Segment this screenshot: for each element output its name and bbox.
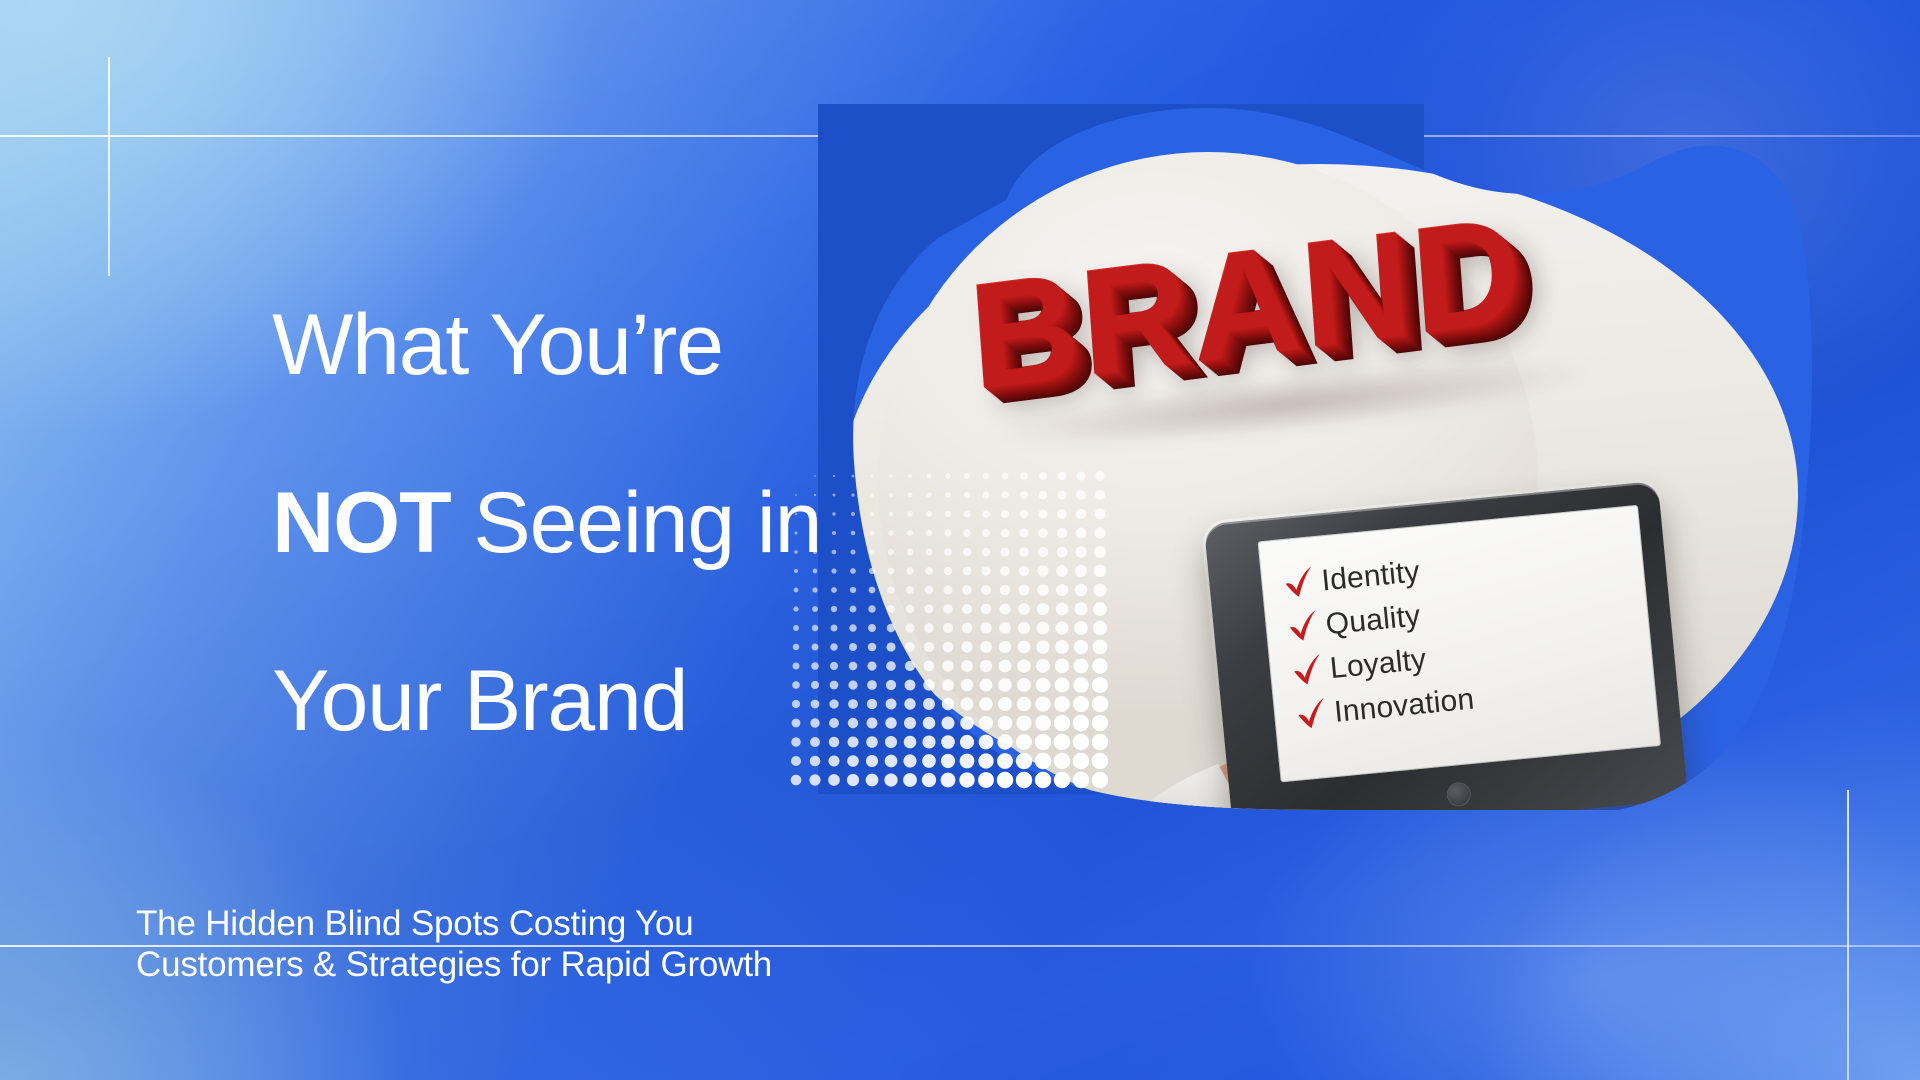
blob-mask: BRAND xyxy=(818,104,1818,810)
check-mark-icon xyxy=(1284,609,1321,646)
hero-banner: BRAND xyxy=(0,0,1920,1080)
headline-line-2: Seeing in xyxy=(451,475,822,571)
hero-subtitle: The Hidden Blind Spots Costing You Custo… xyxy=(136,903,776,985)
check-mark-icon xyxy=(1280,565,1317,602)
blob-image-container: BRAND xyxy=(818,104,1818,810)
checklist-label: Loyalty xyxy=(1329,643,1428,686)
tablet-device: Identity Quality xyxy=(1204,481,1689,810)
check-mark-icon xyxy=(1293,697,1330,734)
headline-emphasis: NOT xyxy=(272,475,451,571)
brand-checklist: Identity Quality xyxy=(1280,546,1476,738)
check-mark-icon xyxy=(1289,653,1326,690)
headline-line-1: What You’re xyxy=(272,297,723,393)
page-title: What You’re NOT Seeing in Your Brand xyxy=(136,212,836,835)
guide-line-vertical-left xyxy=(108,57,110,276)
guide-line-vertical-right xyxy=(1847,790,1849,1080)
checklist-label: Quality xyxy=(1324,599,1422,642)
brand-photo: BRAND xyxy=(818,104,1818,810)
checklist-label: Identity xyxy=(1320,555,1421,598)
hero-copy: What You’re NOT Seeing in Your Brand The… xyxy=(136,212,836,985)
checklist-label: Innovation xyxy=(1333,683,1476,730)
headline-line-3: Your Brand xyxy=(272,653,687,749)
tablet-screen: Identity Quality xyxy=(1258,505,1661,782)
